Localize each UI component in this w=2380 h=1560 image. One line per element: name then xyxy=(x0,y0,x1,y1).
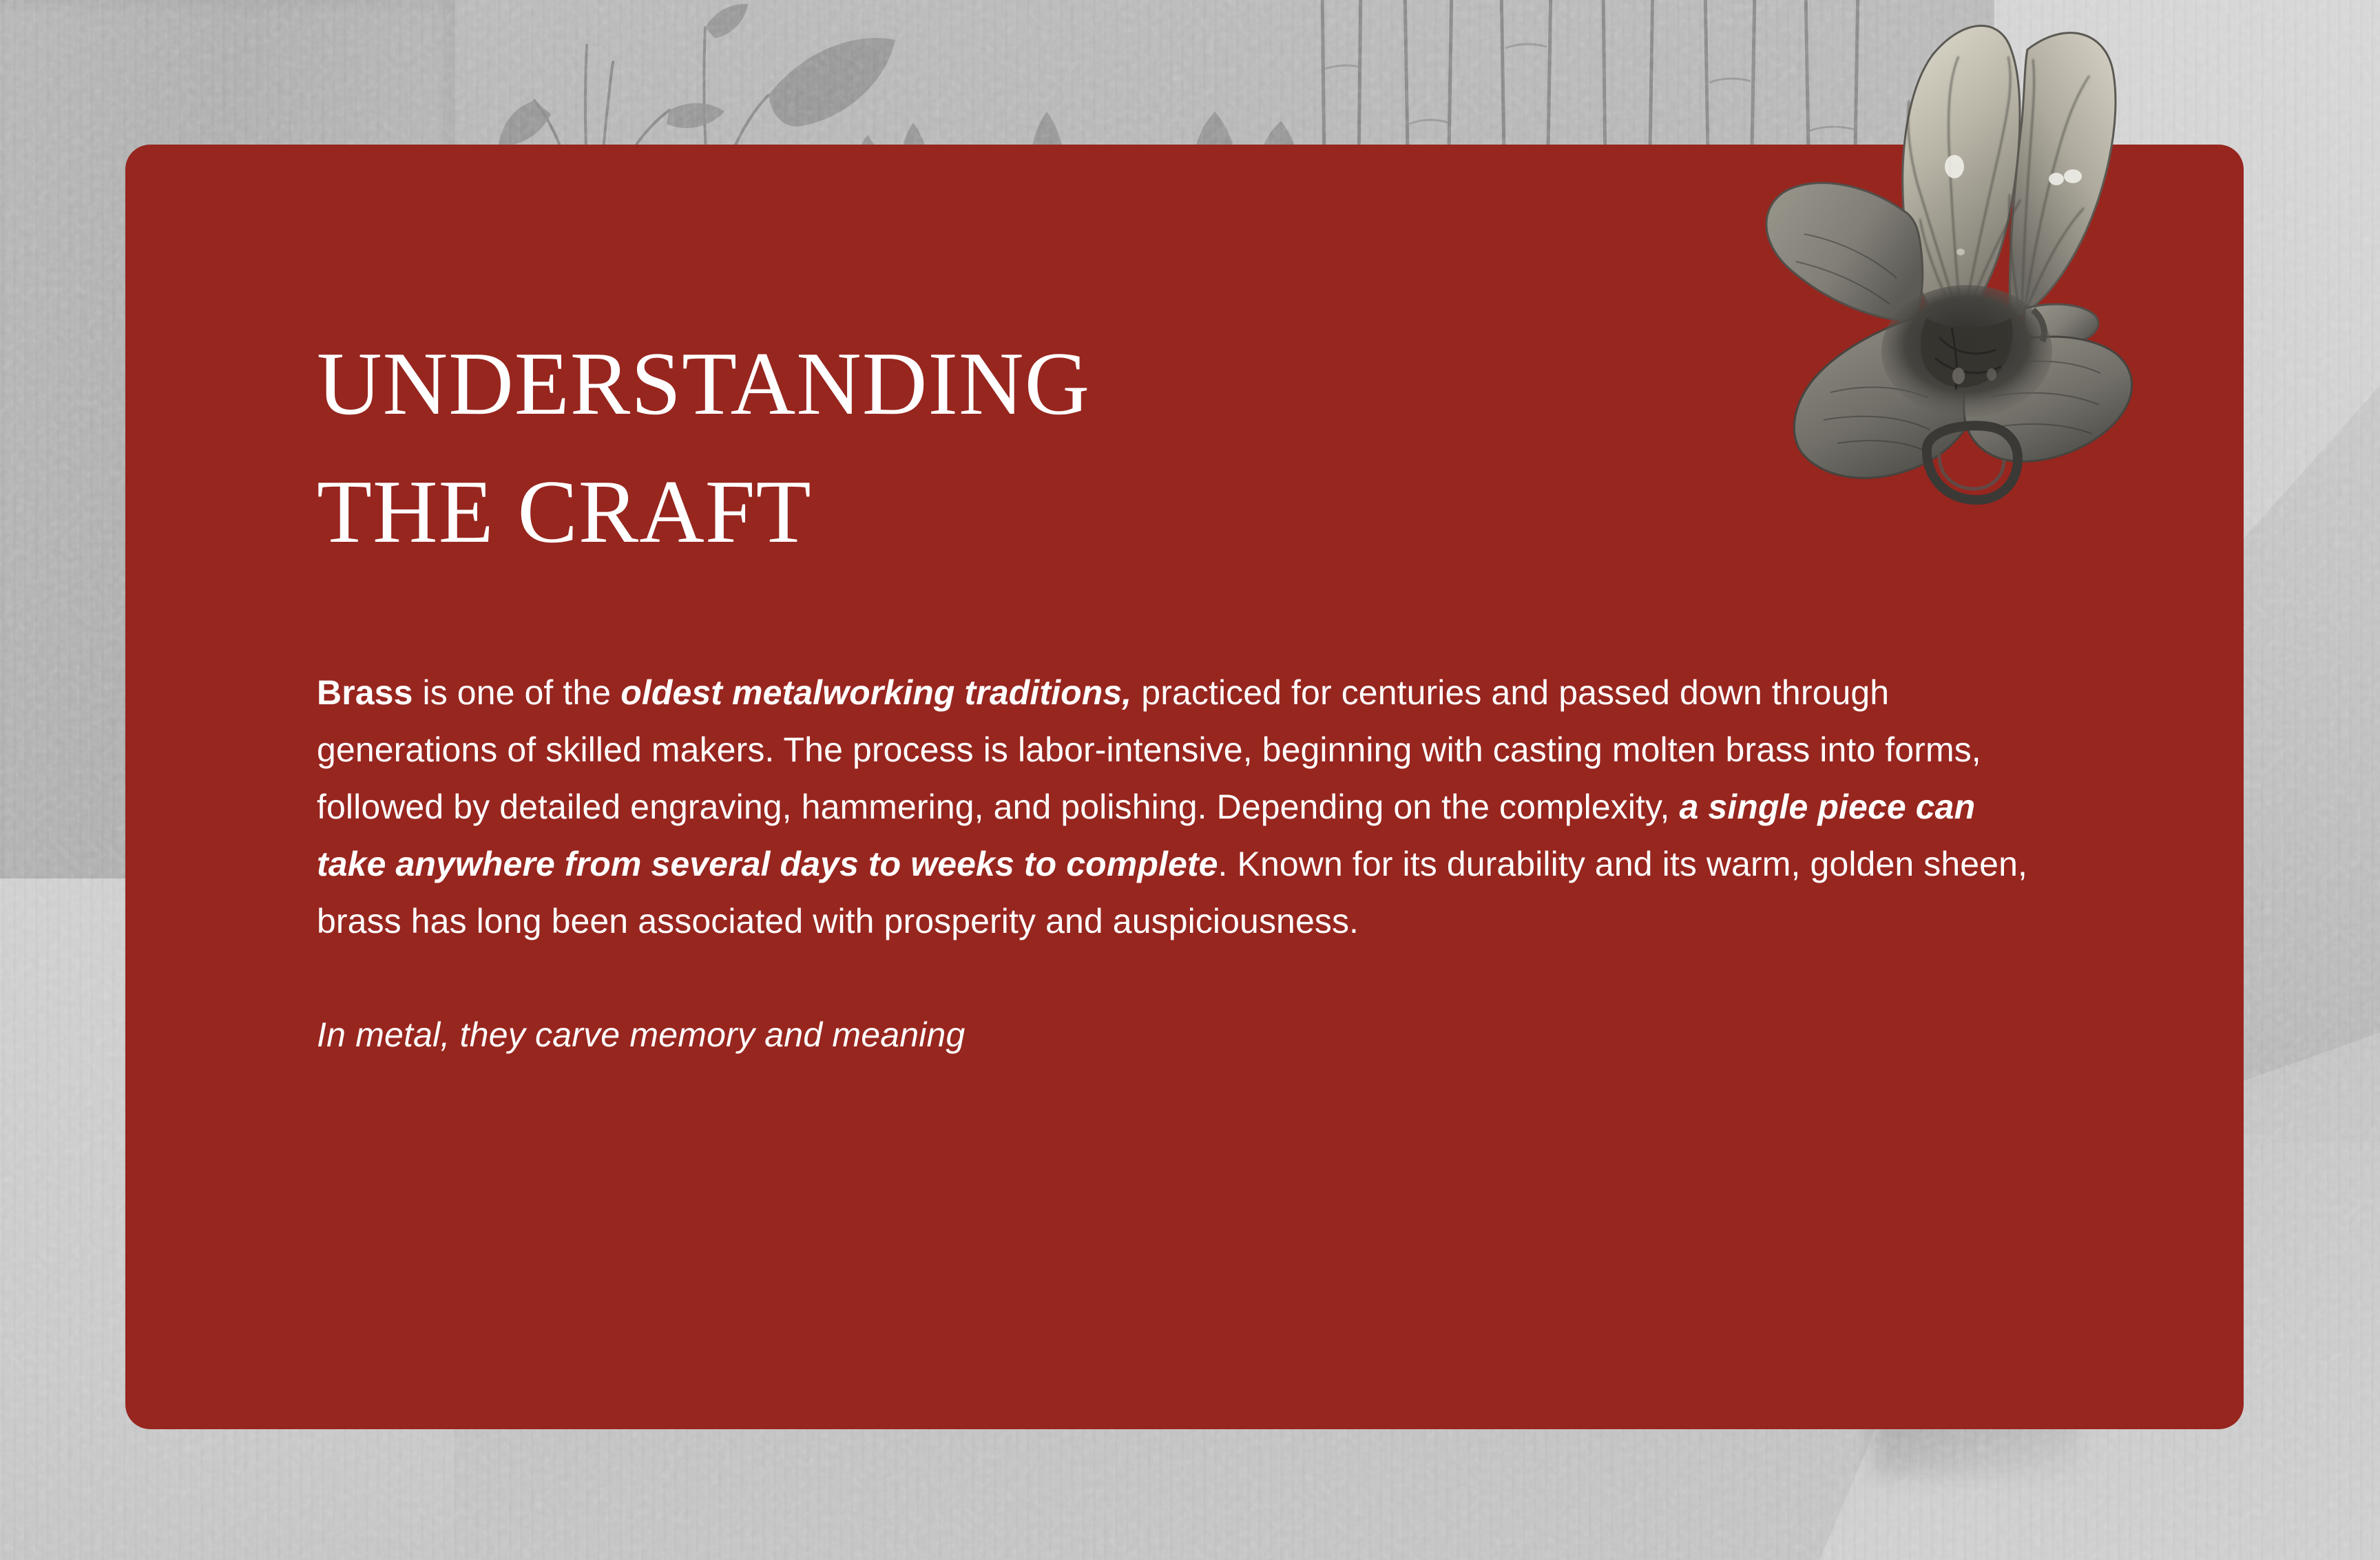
content-card: UNDERSTANDING THE CRAFT Brass is one of … xyxy=(125,145,2244,1429)
tagline: In metal, they carve memory and meaning xyxy=(317,1009,2059,1061)
slide-canvas: UNDERSTANDING THE CRAFT Brass is one of … xyxy=(0,0,2380,1560)
body-segment-1: is one of the xyxy=(413,673,621,712)
body-emphasis-1: oldest metalworking traditions, xyxy=(620,673,1131,712)
card-content: UNDERSTANDING THE CRAFT Brass is one of … xyxy=(317,320,2059,1061)
body-lead-bold: Brass xyxy=(317,673,413,712)
page-title: UNDERSTANDING THE CRAFT xyxy=(317,320,2059,576)
body-paragraph: Brass is one of the oldest metalworking … xyxy=(317,664,2038,950)
